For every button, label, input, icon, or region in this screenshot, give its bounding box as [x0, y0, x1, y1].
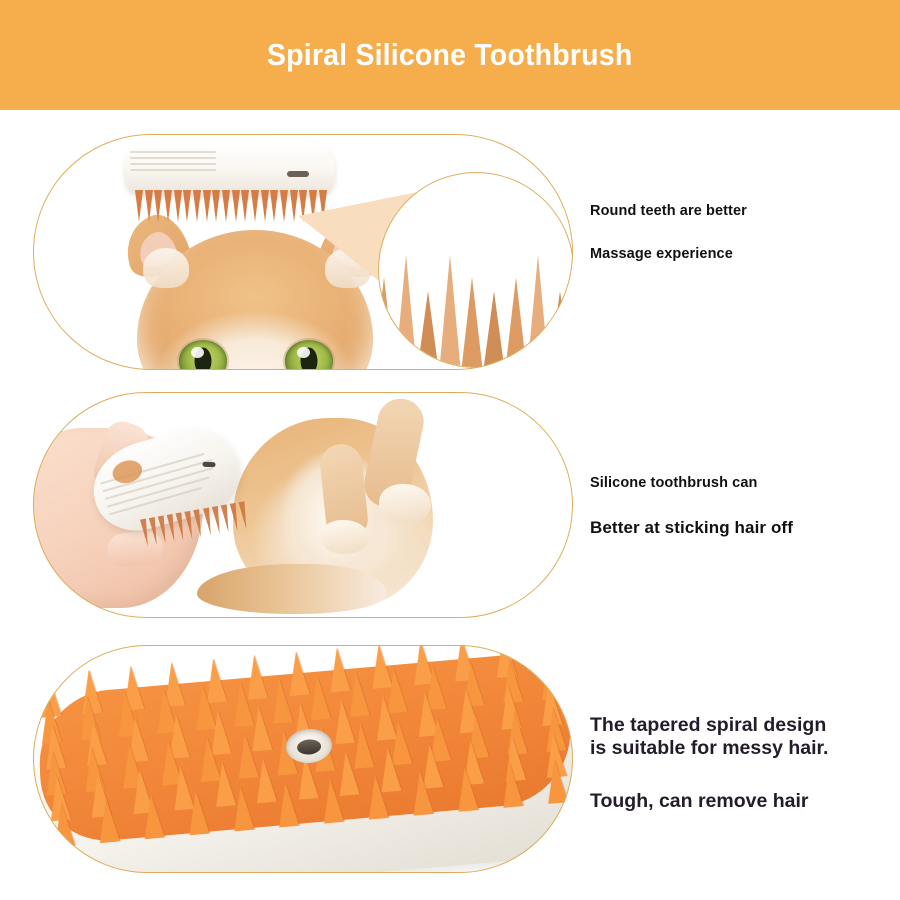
section-3-line-1b: is suitable for messy hair.: [590, 737, 828, 760]
section-3-line-1a: The tapered spiral design: [590, 714, 828, 737]
section-1-line-1: Round teeth are better: [590, 203, 747, 219]
section-3-line-2: Tough, can remove hair: [590, 790, 809, 813]
section-2-panel-border: [33, 392, 573, 618]
page-header-banner: Spiral Silicone Toothbrush: [0, 0, 900, 110]
section-2-line-2: Better at sticking hair off: [590, 518, 793, 538]
section-3-panel-border: [33, 645, 573, 873]
section-1-line-2: Massage experience: [590, 246, 733, 262]
product-infographic-page: Spiral Silicone Toothbrush: [0, 0, 900, 900]
section-2-line-1: Silicone toothbrush can: [590, 475, 757, 491]
section-1-panel-border: [33, 134, 573, 370]
section-3-line-1: The tapered spiral design is suitable fo…: [590, 714, 828, 760]
page-title: Spiral Silicone Toothbrush: [267, 37, 633, 73]
